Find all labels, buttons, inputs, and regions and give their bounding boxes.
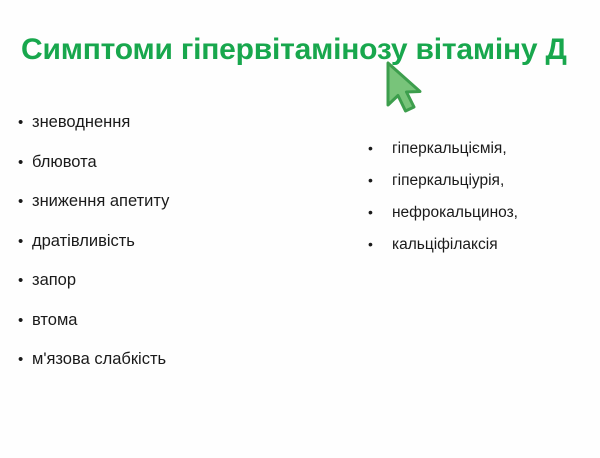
list-item: • кальціфілаксія <box>368 236 588 268</box>
symptoms-list-left: • зневоднення • блювота • зниження апети… <box>18 113 318 390</box>
bullet-icon: • <box>18 273 32 288</box>
bullet-icon: • <box>368 173 392 187</box>
bullet-icon: • <box>18 352 32 367</box>
bullet-icon: • <box>368 205 392 219</box>
bullet-icon: • <box>18 115 32 130</box>
bullet-icon: • <box>18 234 32 249</box>
slide-canvas: Симптоми гіпервітамінозу вітаміну Д • зн… <box>0 0 600 458</box>
list-item-label: блювота <box>32 153 97 172</box>
list-item: • нефрокальциноз, <box>368 204 588 236</box>
list-item-label: гіперкальціємія, <box>392 140 507 158</box>
bullet-icon: • <box>18 155 32 170</box>
page-title: Симптоми гіпервітамінозу вітаміну Д <box>21 30 567 70</box>
list-item: • гіперкальціємія, <box>368 140 588 172</box>
list-item: • дратівливість <box>18 232 318 272</box>
bullet-icon: • <box>368 141 392 155</box>
list-item-label: кальціфілаксія <box>392 236 498 254</box>
list-item-label: нефрокальциноз, <box>392 204 518 222</box>
list-item-label: м'язова слабкість <box>32 350 166 369</box>
list-item: • зневоднення <box>18 113 318 153</box>
bullet-icon: • <box>368 237 392 251</box>
list-item: • гіперкальціурія, <box>368 172 588 204</box>
list-item: • м'язова слабкість <box>18 350 318 390</box>
list-item-label: втома <box>32 311 77 330</box>
list-item-label: зниження апетиту <box>32 192 169 211</box>
list-item: • запор <box>18 271 318 311</box>
list-item: • блювота <box>18 153 318 193</box>
list-item-label: дратівливість <box>32 232 135 251</box>
list-item-label: гіперкальціурія, <box>392 172 504 190</box>
symptoms-list-right: • гіперкальціємія, • гіперкальціурія, • … <box>368 140 588 268</box>
list-item-label: запор <box>32 271 76 290</box>
list-item: • зниження апетиту <box>18 192 318 232</box>
list-item: • втома <box>18 311 318 351</box>
bullet-icon: • <box>18 313 32 328</box>
list-item-label: зневоднення <box>32 113 130 132</box>
bullet-icon: • <box>18 194 32 209</box>
